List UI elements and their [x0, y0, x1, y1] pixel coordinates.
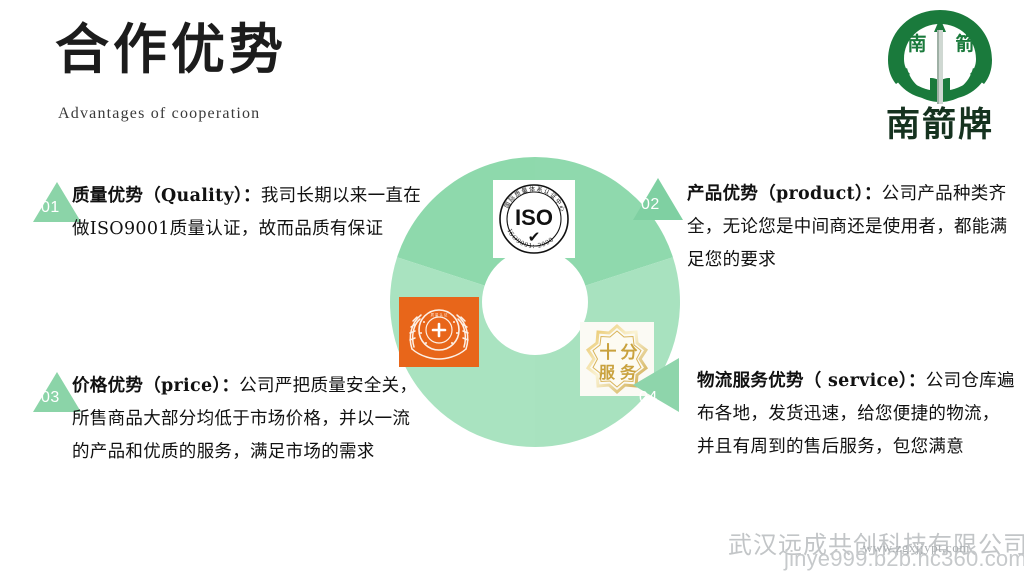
advantage-item-service: 物流服务优势（ service）：公司仓库遍布各地，发货迅速，给您便捷的物流，并… — [697, 365, 1015, 464]
svg-text:服: 服 — [599, 363, 616, 382]
iso-badge-icon: ISO ✔ 国际质量体系认证中心 ISO9001: 2000 — [493, 180, 575, 258]
advantage-lead-product: 产品优势（product）： — [687, 184, 882, 204]
donut-hub — [482, 249, 588, 355]
svg-text:南: 南 — [907, 33, 926, 55]
logo-wordmark: 南箭牌 — [870, 108, 1010, 142]
company-logo: 南 箭 南箭牌 — [870, 4, 1010, 159]
item-number-04: 04 — [639, 389, 658, 407]
watermark-url-primary: www.zgxjjypt.com — [863, 540, 970, 556]
page-subtitle: Advantages of cooperation — [58, 105, 260, 123]
iso-badge: ISO ✔ 国际质量体系认证中心 ISO9001: 2000 — [493, 180, 575, 258]
item-number-02: 02 — [641, 196, 660, 214]
advantage-item-product: 产品优势（product）：公司产品种类齐全，无论您是中间商还是使用者，都能满足… — [687, 178, 1012, 277]
svg-text:十: 十 — [600, 342, 617, 363]
advantage-lead-service: 物流服务优势（ service）： — [697, 371, 926, 391]
advantage-item-quality: 质量优势（Quality）：我司长期以来一直在做ISO9001质量认证，故而品质… — [72, 180, 427, 246]
certification-badge: 质 量 认 证 — [399, 297, 479, 367]
advantage-text-price: 价格优势（price）：公司严把质量安全关，所售商品大部分均低于市场价格，并以一… — [72, 370, 427, 469]
page-title: 合作优势 — [55, 18, 287, 80]
advantage-text-quality: 质量优势（Quality）：我司长期以来一直在做ISO9001质量认证，故而品质… — [72, 180, 427, 246]
svg-text:箭: 箭 — [955, 32, 974, 55]
advantage-text-product: 产品优势（product）：公司产品种类齐全，无论您是中间商还是使用者，都能满足… — [687, 178, 1012, 277]
item-marker-04: 04 — [633, 358, 679, 412]
item-number-01: 01 — [41, 199, 60, 217]
logo-emblem-icon: 南 箭 — [870, 4, 1010, 114]
svg-text:质 量 认 证: 质 量 认 证 — [431, 312, 448, 317]
advantage-text-service: 物流服务优势（ service）：公司仓库遍布各地，发货迅速，给您便捷的物流，并… — [697, 365, 1015, 464]
item-marker-02: 02 — [633, 178, 683, 220]
slide-canvas: 合作优势 Advantages of cooperation 南 箭 南箭牌 — [0, 0, 1024, 576]
advantage-lead-price: 价格优势（price）： — [72, 376, 239, 396]
advantage-item-price: 价格优势（price）：公司严把质量安全关，所售商品大部分均低于市场价格，并以一… — [72, 370, 427, 469]
item-number-03: 03 — [41, 389, 60, 407]
certification-badge-icon: 质 量 认 证 — [399, 297, 479, 367]
svg-text:ISO: ISO — [515, 205, 553, 230]
advantage-lead-quality: 质量优势（Quality）： — [72, 186, 261, 206]
